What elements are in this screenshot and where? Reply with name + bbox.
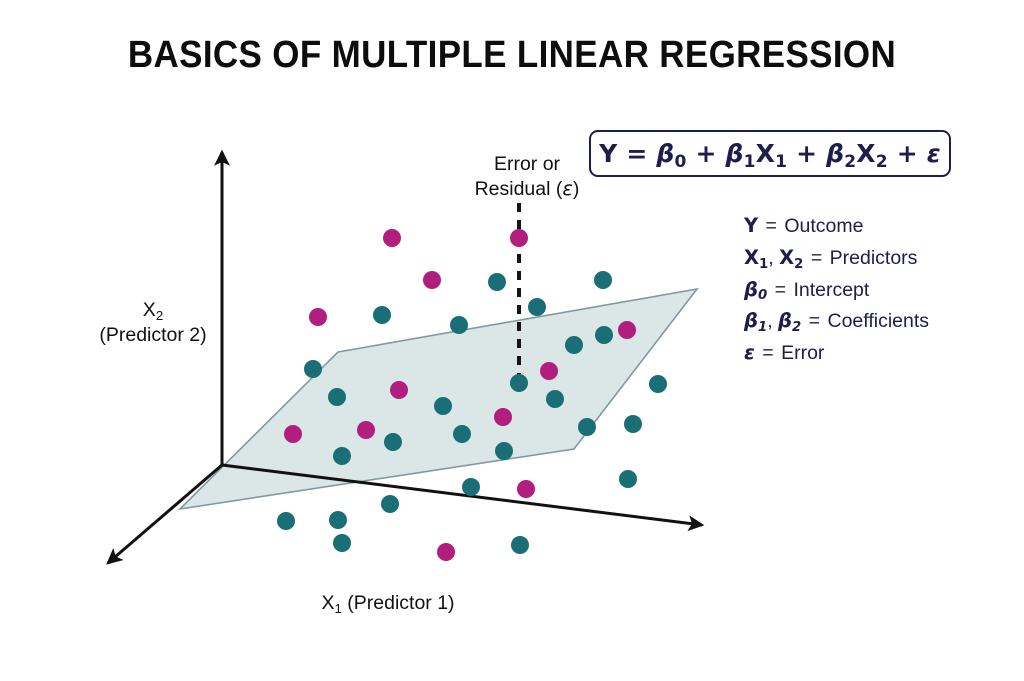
equation-equals: =	[626, 139, 647, 168]
data-point	[333, 534, 351, 552]
symbol-legend: Y = OutcomeX1, X2 = Predictorsβ0 = Inter…	[744, 215, 1004, 374]
data-point	[511, 536, 529, 554]
data-point	[540, 362, 558, 380]
equation-box: Y = β0 + β1X1 + β2X2 + ε	[589, 130, 951, 177]
legend-symbol-sub: 0	[758, 288, 767, 303]
legend-symbol-sub: 1	[758, 320, 767, 335]
axis-label-x1-symbol: X	[321, 592, 334, 614]
data-point	[619, 470, 637, 488]
axis-depth	[108, 465, 222, 563]
legend-row: Y = Outcome	[744, 215, 1004, 238]
legend-symbol: Y	[744, 214, 758, 237]
legend-comma: ,	[767, 310, 778, 332]
data-point	[578, 418, 596, 436]
legend-definition: Error	[781, 342, 824, 364]
legend-row: ε = Error	[744, 342, 1004, 365]
axis-label-x1-sub: 1	[334, 601, 341, 616]
legend-symbol-2: β2	[778, 309, 801, 332]
legend-equals: =	[801, 310, 827, 332]
data-point	[546, 390, 564, 408]
legend-equals: =	[767, 279, 793, 301]
equation-beta1-sub: 1	[744, 152, 756, 172]
residual-annotation: Error or Residual (ε)	[447, 152, 607, 202]
data-point	[517, 480, 535, 498]
data-point	[595, 326, 613, 344]
data-point	[277, 512, 295, 530]
data-point	[453, 425, 471, 443]
annotation-line2-post: )	[573, 178, 580, 200]
legend-symbol: X1	[744, 246, 768, 269]
data-point	[594, 271, 612, 289]
legend-symbol-sub: 1	[759, 257, 768, 272]
data-point	[333, 447, 351, 465]
equation-beta2-sub: 2	[844, 152, 856, 172]
legend-symbol-2-sub: 2	[792, 320, 801, 335]
equation-plus-1: +	[695, 139, 716, 168]
data-point	[284, 425, 302, 443]
axis-label-x2-sub: 2	[156, 308, 163, 323]
legend-definition: Coefficients	[827, 310, 929, 332]
data-point	[488, 273, 506, 291]
annotation-epsilon: ε	[562, 177, 573, 200]
axis-label-x2: X2 (Predictor 2)	[88, 298, 218, 349]
data-point	[328, 388, 346, 406]
data-point	[510, 229, 528, 247]
data-point	[510, 374, 528, 392]
axis-label-x1: X1 (Predictor 1)	[268, 592, 508, 615]
data-point	[450, 316, 468, 334]
data-point	[624, 415, 642, 433]
legend-symbol: ε	[744, 341, 755, 364]
equation-beta0-sub: 0	[675, 152, 687, 172]
annotation-line2-pre: Residual (	[475, 178, 563, 200]
equation-x2-sub: 2	[876, 152, 888, 172]
data-point	[649, 375, 667, 393]
data-point	[528, 298, 546, 316]
equation-x1: X	[756, 139, 775, 168]
legend-equals: =	[803, 247, 829, 269]
legend-definition: Intercept	[793, 279, 869, 301]
legend-definition: Predictors	[830, 247, 918, 269]
legend-row: X1, X2 = Predictors	[744, 247, 1004, 270]
legend-comma: ,	[768, 247, 779, 269]
equation-x2: X	[856, 139, 875, 168]
legend-row: β0 = Intercept	[744, 279, 1004, 302]
data-point	[329, 511, 347, 529]
data-point	[304, 360, 322, 378]
legend-symbol: β0	[744, 278, 767, 301]
equation-text: Y = β0 + β1X1 + β2X2 + ε	[599, 139, 941, 168]
equation-beta0: β	[656, 139, 674, 168]
legend-row: β1, β2 = Coefficients	[744, 310, 1004, 333]
legend-symbol: β1	[744, 309, 767, 332]
legend-equals: =	[758, 215, 784, 237]
equation-plus-2: +	[796, 139, 817, 168]
data-point	[462, 478, 480, 496]
data-point	[565, 336, 583, 354]
data-point	[390, 381, 408, 399]
legend-symbol-2-sub: 2	[794, 257, 803, 272]
data-point	[383, 229, 401, 247]
equation-beta1: β	[726, 139, 744, 168]
data-point	[434, 397, 452, 415]
data-point	[494, 408, 512, 426]
annotation-line1: Error or	[494, 153, 560, 175]
equation-epsilon: ε	[927, 139, 941, 168]
legend-symbol-2: X2	[779, 246, 803, 269]
data-point	[384, 433, 402, 451]
data-point	[373, 306, 391, 324]
data-point	[309, 308, 327, 326]
equation-plus-3: +	[897, 139, 918, 168]
data-point	[357, 421, 375, 439]
axis-label-x2-caption: (Predictor 2)	[88, 323, 218, 348]
legend-equals: =	[755, 342, 781, 364]
axis-label-x1-caption: (Predictor 1)	[342, 592, 455, 614]
equation-x1-sub: 1	[775, 152, 787, 172]
legend-definition: Outcome	[784, 215, 863, 237]
data-point	[495, 442, 513, 460]
axis-label-x2-symbol: X	[143, 299, 156, 321]
data-point	[381, 495, 399, 513]
equation-beta2: β	[826, 139, 844, 168]
data-point	[618, 321, 636, 339]
poster-canvas: BASICS OF MULTIPLE LINEAR REGRESSION Y =…	[0, 0, 1024, 681]
data-point	[423, 271, 441, 289]
data-point	[437, 543, 455, 561]
